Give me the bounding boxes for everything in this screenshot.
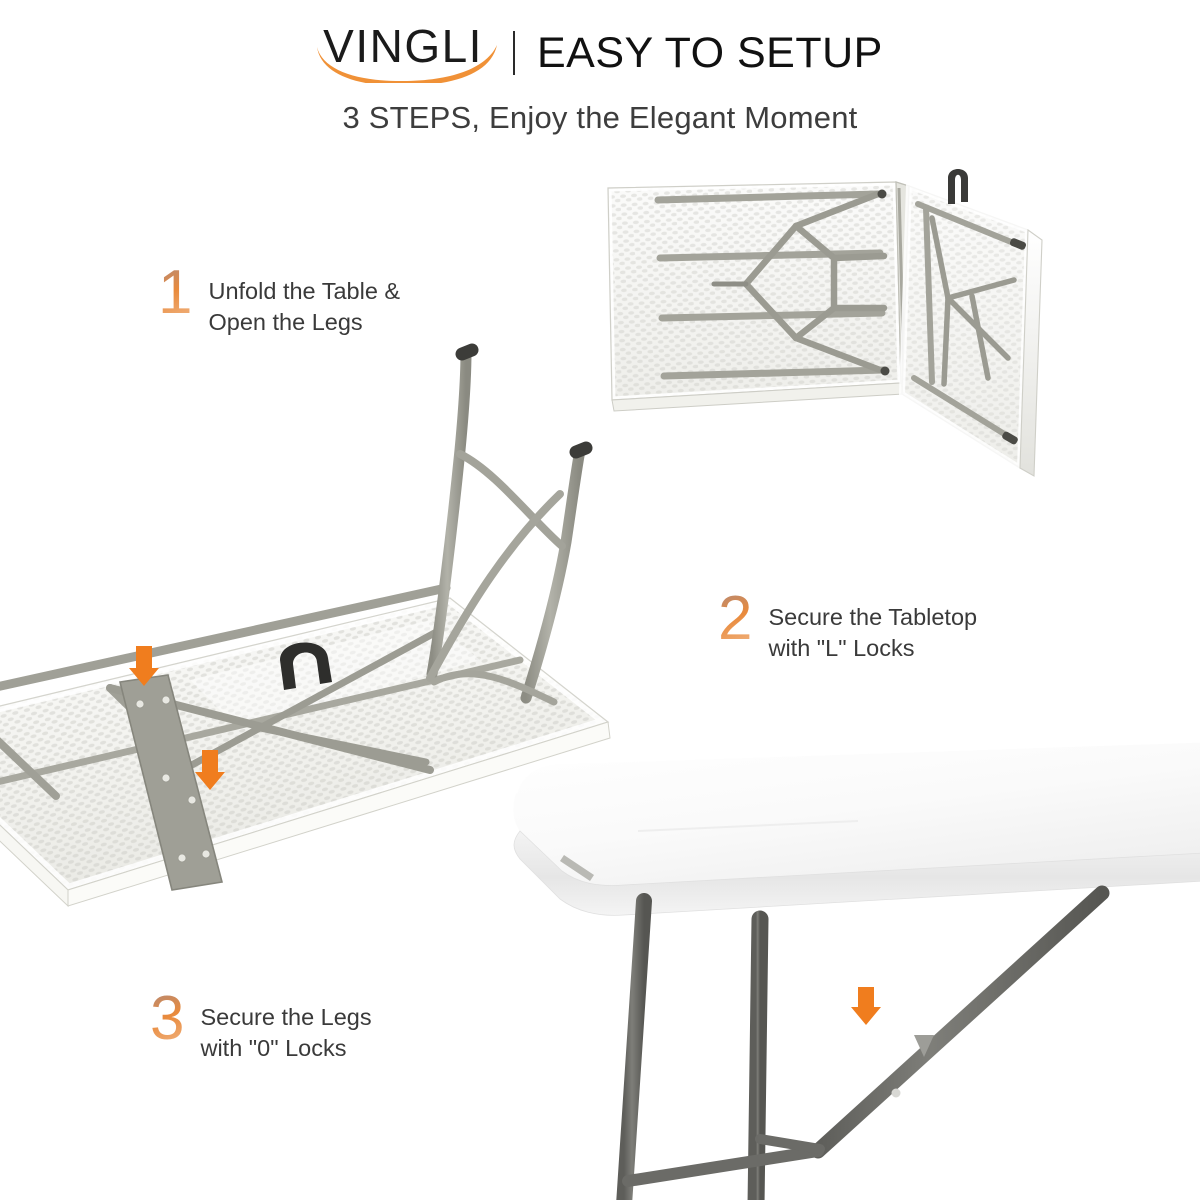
step-2-number: 2 — [718, 594, 752, 645]
lock-marker-arrow — [851, 987, 881, 1025]
step-2-line-1: Secure the Tabletop — [768, 602, 977, 633]
photo-assembled-table — [498, 735, 1200, 1200]
step-2-line-2: with "L" Locks — [768, 633, 977, 664]
step-3-number: 3 — [150, 994, 184, 1045]
step-1-line-1: Unfold the Table & — [208, 276, 400, 307]
infographic-canvas: VINGLI EASY TO SETUP 3 STEPS, Enjoy the … — [0, 0, 1200, 1200]
step-3: 3 Secure the Legs with "0" Locks — [150, 998, 372, 1064]
brand-logo: VINGLI — [317, 23, 489, 83]
assembled-legs — [624, 893, 1102, 1200]
photo-folded-table — [596, 168, 1066, 508]
step-3-line-2: with "0" Locks — [200, 1033, 371, 1064]
page-title: EASY TO SETUP — [537, 32, 883, 75]
step-1: 1 Unfold the Table & Open the Legs — [158, 272, 400, 338]
header-divider — [513, 31, 515, 75]
folded-right-panel — [902, 186, 1042, 476]
header: VINGLI EASY TO SETUP — [0, 18, 1200, 88]
step-1-line-2: Open the Legs — [208, 307, 400, 338]
step-1-text: Unfold the Table & Open the Legs — [208, 272, 400, 338]
page-subtitle: 3 STEPS, Enjoy the Elegant Moment — [0, 100, 1200, 136]
step-3-line-1: Secure the Legs — [200, 1002, 371, 1033]
step-2: 2 Secure the Tabletop with "L" Locks — [718, 598, 977, 664]
brand-name: VINGLI — [323, 20, 483, 72]
step-2-text: Secure the Tabletop with "L" Locks — [768, 598, 977, 664]
step-1-number: 1 — [158, 268, 192, 319]
step-3-text: Secure the Legs with "0" Locks — [200, 998, 371, 1064]
carry-handle-icon — [948, 169, 968, 204]
